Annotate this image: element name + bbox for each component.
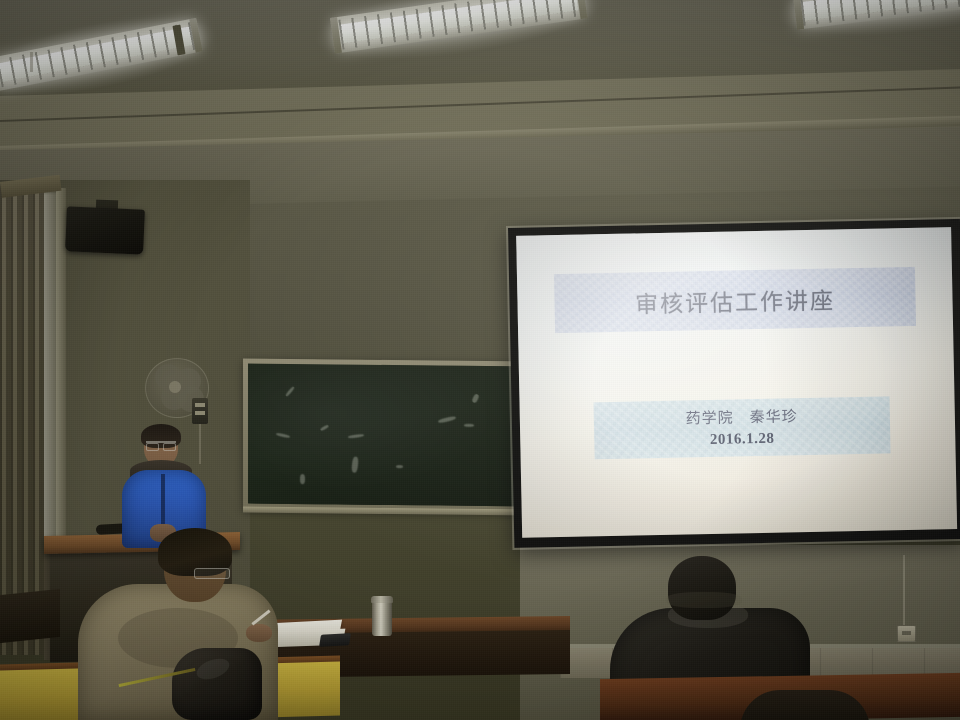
chalk-mark: [320, 424, 329, 431]
thermos-lid: [371, 596, 393, 603]
chalk-mark: [348, 434, 364, 439]
slide-title: 审核评估工作讲座: [635, 281, 836, 319]
chalk-mark: [285, 386, 295, 397]
curtain: [0, 185, 44, 655]
fan-hub: [169, 381, 181, 393]
chalk-mark: [464, 424, 474, 427]
conduit: [903, 555, 905, 627]
chalk-mark: [351, 456, 359, 473]
projection-screen: 审核评估工作讲座 药学院 秦华珍 2016.1.28: [508, 219, 960, 548]
wall-outlet[interactable]: [897, 625, 916, 642]
screen-surface: 审核评估工作讲座 药学院 秦华珍 2016.1.28: [516, 227, 957, 538]
fan-control-box[interactable]: [192, 398, 208, 424]
wall-speaker-icon: [65, 206, 145, 254]
thermos[interactable]: [372, 600, 392, 636]
chalk-mark: [276, 432, 290, 438]
slide-title-band: 审核评估工作讲座: [554, 267, 916, 333]
student-right-head: [668, 556, 736, 620]
glasses-icon: [194, 568, 230, 579]
student-right-hair: [666, 592, 742, 608]
slide-author: 药学院 秦华珍: [685, 406, 797, 429]
student-left-hand: [246, 624, 272, 642]
blackboard-surface: [248, 364, 525, 507]
chalk-mark: [300, 474, 305, 484]
mobile-phone[interactable]: [319, 633, 351, 647]
presenter: [116, 424, 212, 544]
glasses-icon: [146, 441, 176, 449]
fan-control-slot: [195, 403, 205, 407]
classroom-photo: 审核评估工作讲座 药学院 秦华珍 2016.1.28: [0, 0, 960, 720]
chair-back: [0, 589, 60, 643]
slide-date: 2016.1.28: [710, 431, 775, 449]
slide-subtitle-band: 药学院 秦华珍 2016.1.28: [593, 396, 890, 459]
chalk-mark: [438, 416, 456, 424]
fan-stem: [30, 52, 33, 72]
fan-control-slot: [195, 411, 205, 415]
chalk-mark: [396, 465, 403, 468]
blackboard: [243, 358, 531, 513]
chalk-mark: [471, 393, 479, 403]
